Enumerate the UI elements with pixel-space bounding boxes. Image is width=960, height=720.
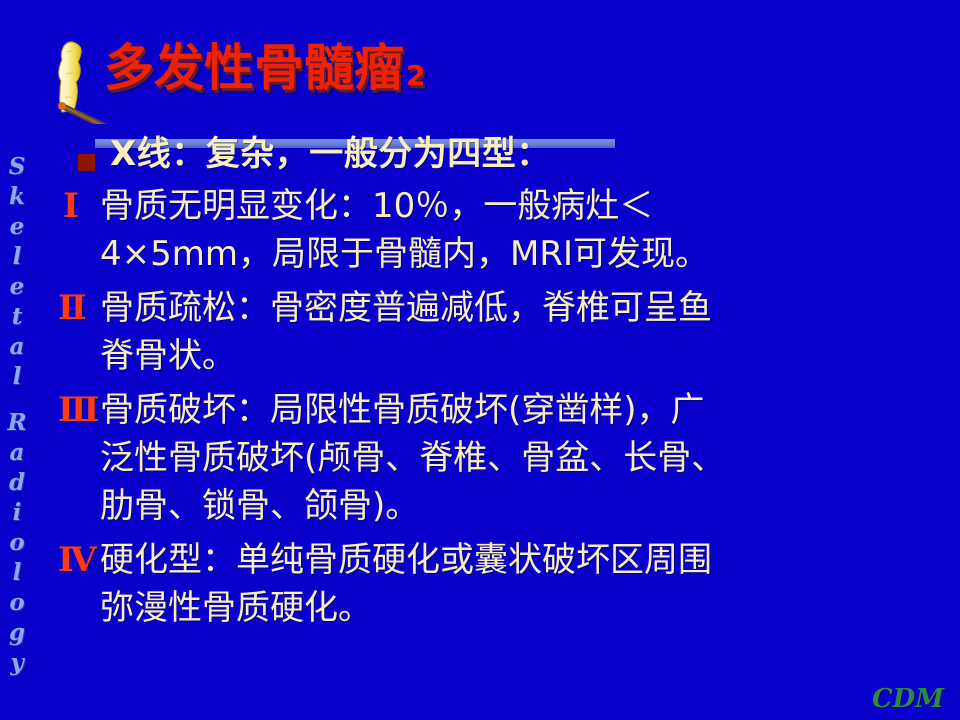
presentation-slide: S k e l e t a l R a d i o l o g y: [0, 0, 960, 720]
slide-body: X线：复杂，一般分为四型： Ⅰ 骨质无明显变化：10％，一般病灶＜ 4×5mm，…: [0, 128, 960, 632]
type-item-4-line-2: 弥漫性骨质硬化。: [100, 584, 930, 632]
xray-lead-letter: X: [110, 134, 137, 174]
type-item-2-text: 骨质疏松：骨密度普遍减低，脊椎可呈鱼 脊骨状。: [100, 284, 930, 380]
type-item-3-line-1: 骨质破坏：局限性骨质破坏(穿凿样)，广: [100, 386, 930, 434]
roman-numeral-3: Ⅲ: [0, 386, 100, 434]
roman-numeral-1: Ⅰ: [0, 182, 100, 230]
type-item-1: Ⅰ 骨质无明显变化：10％，一般病灶＜ 4×5mm，局限于骨髓内，MRI可发现。: [0, 182, 960, 278]
type-item-3-line-2: 泛性骨质破坏(颅骨、脊椎、骨盆、长骨、: [100, 434, 930, 482]
bone-icon: [42, 38, 112, 124]
type-item-4-line-1: 硬化型：单纯骨质硬化或囊状破坏区周围: [100, 536, 930, 584]
sidebar-letter: y: [0, 648, 34, 678]
type-item-3-line-3: 肋骨、锁骨、颌骨)。: [100, 482, 930, 530]
type-item-2-line-2: 脊骨状。: [100, 332, 930, 380]
bullet-item-xray-text: X线：复杂，一般分为四型：: [110, 130, 930, 178]
slide-title-row: 多发性骨髓瘤2: [0, 38, 960, 118]
type-item-4: Ⅳ 硬化型：单纯骨质硬化或囊状破坏区周围 弥漫性骨质硬化。: [0, 536, 960, 632]
page-title: 多发性骨髓瘤2: [104, 38, 425, 106]
type-item-4-text: 硬化型：单纯骨质硬化或囊状破坏区周围 弥漫性骨质硬化。: [100, 536, 930, 632]
type-item-3-text: 骨质破坏：局限性骨质破坏(穿凿样)，广 泛性骨质破坏(颅骨、脊椎、骨盆、长骨、 …: [100, 386, 930, 530]
bullet-item-xray: X线：复杂，一般分为四型：: [0, 130, 960, 178]
type-item-1-line-2: 4×5mm，局限于骨髓内，MRI可发现。: [100, 230, 930, 278]
square-bullet-icon: [0, 136, 100, 184]
page-title-main: 多发性骨髓瘤: [104, 38, 404, 97]
watermark: CDM: [872, 684, 944, 714]
type-item-2: Ⅱ 骨质疏松：骨密度普遍减低，脊椎可呈鱼 脊骨状。: [0, 284, 960, 380]
roman-numeral-4: Ⅳ: [0, 536, 100, 584]
roman-numeral-2: Ⅱ: [0, 284, 100, 332]
page-title-suffix: 2: [406, 59, 425, 92]
type-item-2-line-1: 骨质疏松：骨密度普遍减低，脊椎可呈鱼: [100, 284, 930, 332]
xray-body-text: 线：复杂，一般分为四型：: [137, 134, 551, 174]
type-item-1-text: 骨质无明显变化：10％，一般病灶＜ 4×5mm，局限于骨髓内，MRI可发现。: [100, 182, 930, 278]
type-item-3: Ⅲ 骨质破坏：局限性骨质破坏(穿凿样)，广 泛性骨质破坏(颅骨、脊椎、骨盆、长骨…: [0, 386, 960, 530]
pointer-stick-icon: [58, 102, 104, 124]
type-item-1-line-1: 骨质无明显变化：10％，一般病灶＜: [100, 182, 930, 230]
